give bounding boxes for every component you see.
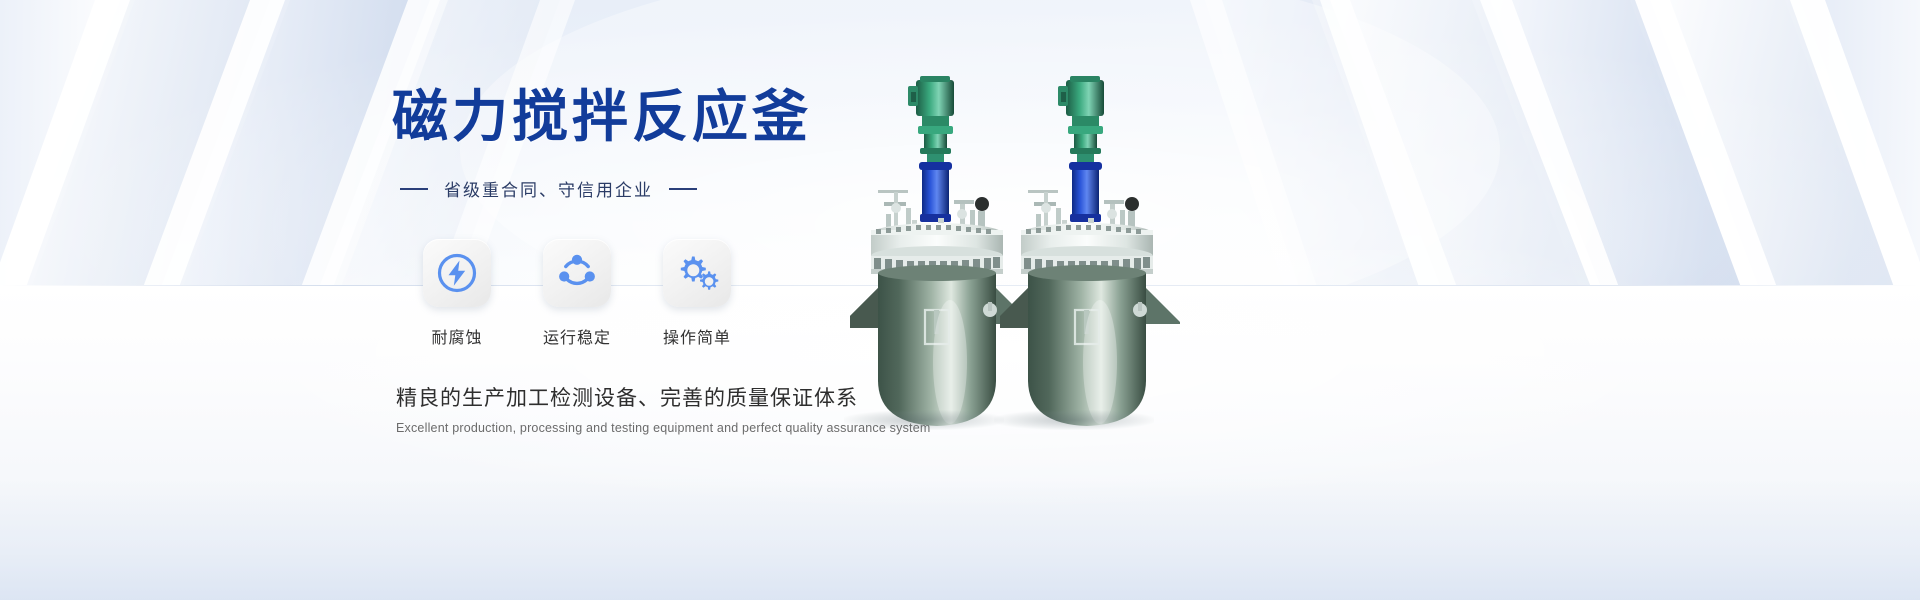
feature-item-stable-operation[interactable]: 运行稳定 xyxy=(518,239,636,348)
feature-icon-card xyxy=(663,239,731,307)
dash-right-decoration xyxy=(669,188,697,190)
magnetic-coupling xyxy=(1069,162,1102,222)
feature-item-corrosion-resistant[interactable]: 耐腐蚀 xyxy=(398,239,516,348)
magnetic-stirring-reactor-vessel-right xyxy=(1000,62,1180,442)
product-shadow xyxy=(844,410,1004,430)
product-image-group xyxy=(840,62,1200,432)
product-hero-banner: 磁力搅拌反应釜 省级重合同、守信用企业 耐腐蚀 xyxy=(0,0,1920,600)
gears-icon xyxy=(675,252,719,294)
reactor-vessel-illustration xyxy=(1000,62,1180,437)
banner-subtitle: 省级重合同、守信用企业 xyxy=(444,176,653,201)
feature-label: 运行稳定 xyxy=(518,324,636,348)
feature-label: 耐腐蚀 xyxy=(398,324,516,348)
feature-icon-card xyxy=(543,239,611,307)
product-shadow xyxy=(994,410,1154,430)
dash-left-decoration xyxy=(400,188,428,190)
lightning-bolt-circle-icon xyxy=(436,252,478,294)
drive-motor xyxy=(908,76,954,164)
feature-label: 操作简单 xyxy=(638,324,756,348)
bottom-vignette xyxy=(0,480,1920,600)
feature-item-simple-operation[interactable]: 操作简单 xyxy=(638,239,756,348)
drive-motor xyxy=(1058,76,1104,164)
feature-icon-card xyxy=(423,239,491,307)
magnetic-coupling xyxy=(919,162,952,222)
network-share-icon xyxy=(556,252,598,294)
